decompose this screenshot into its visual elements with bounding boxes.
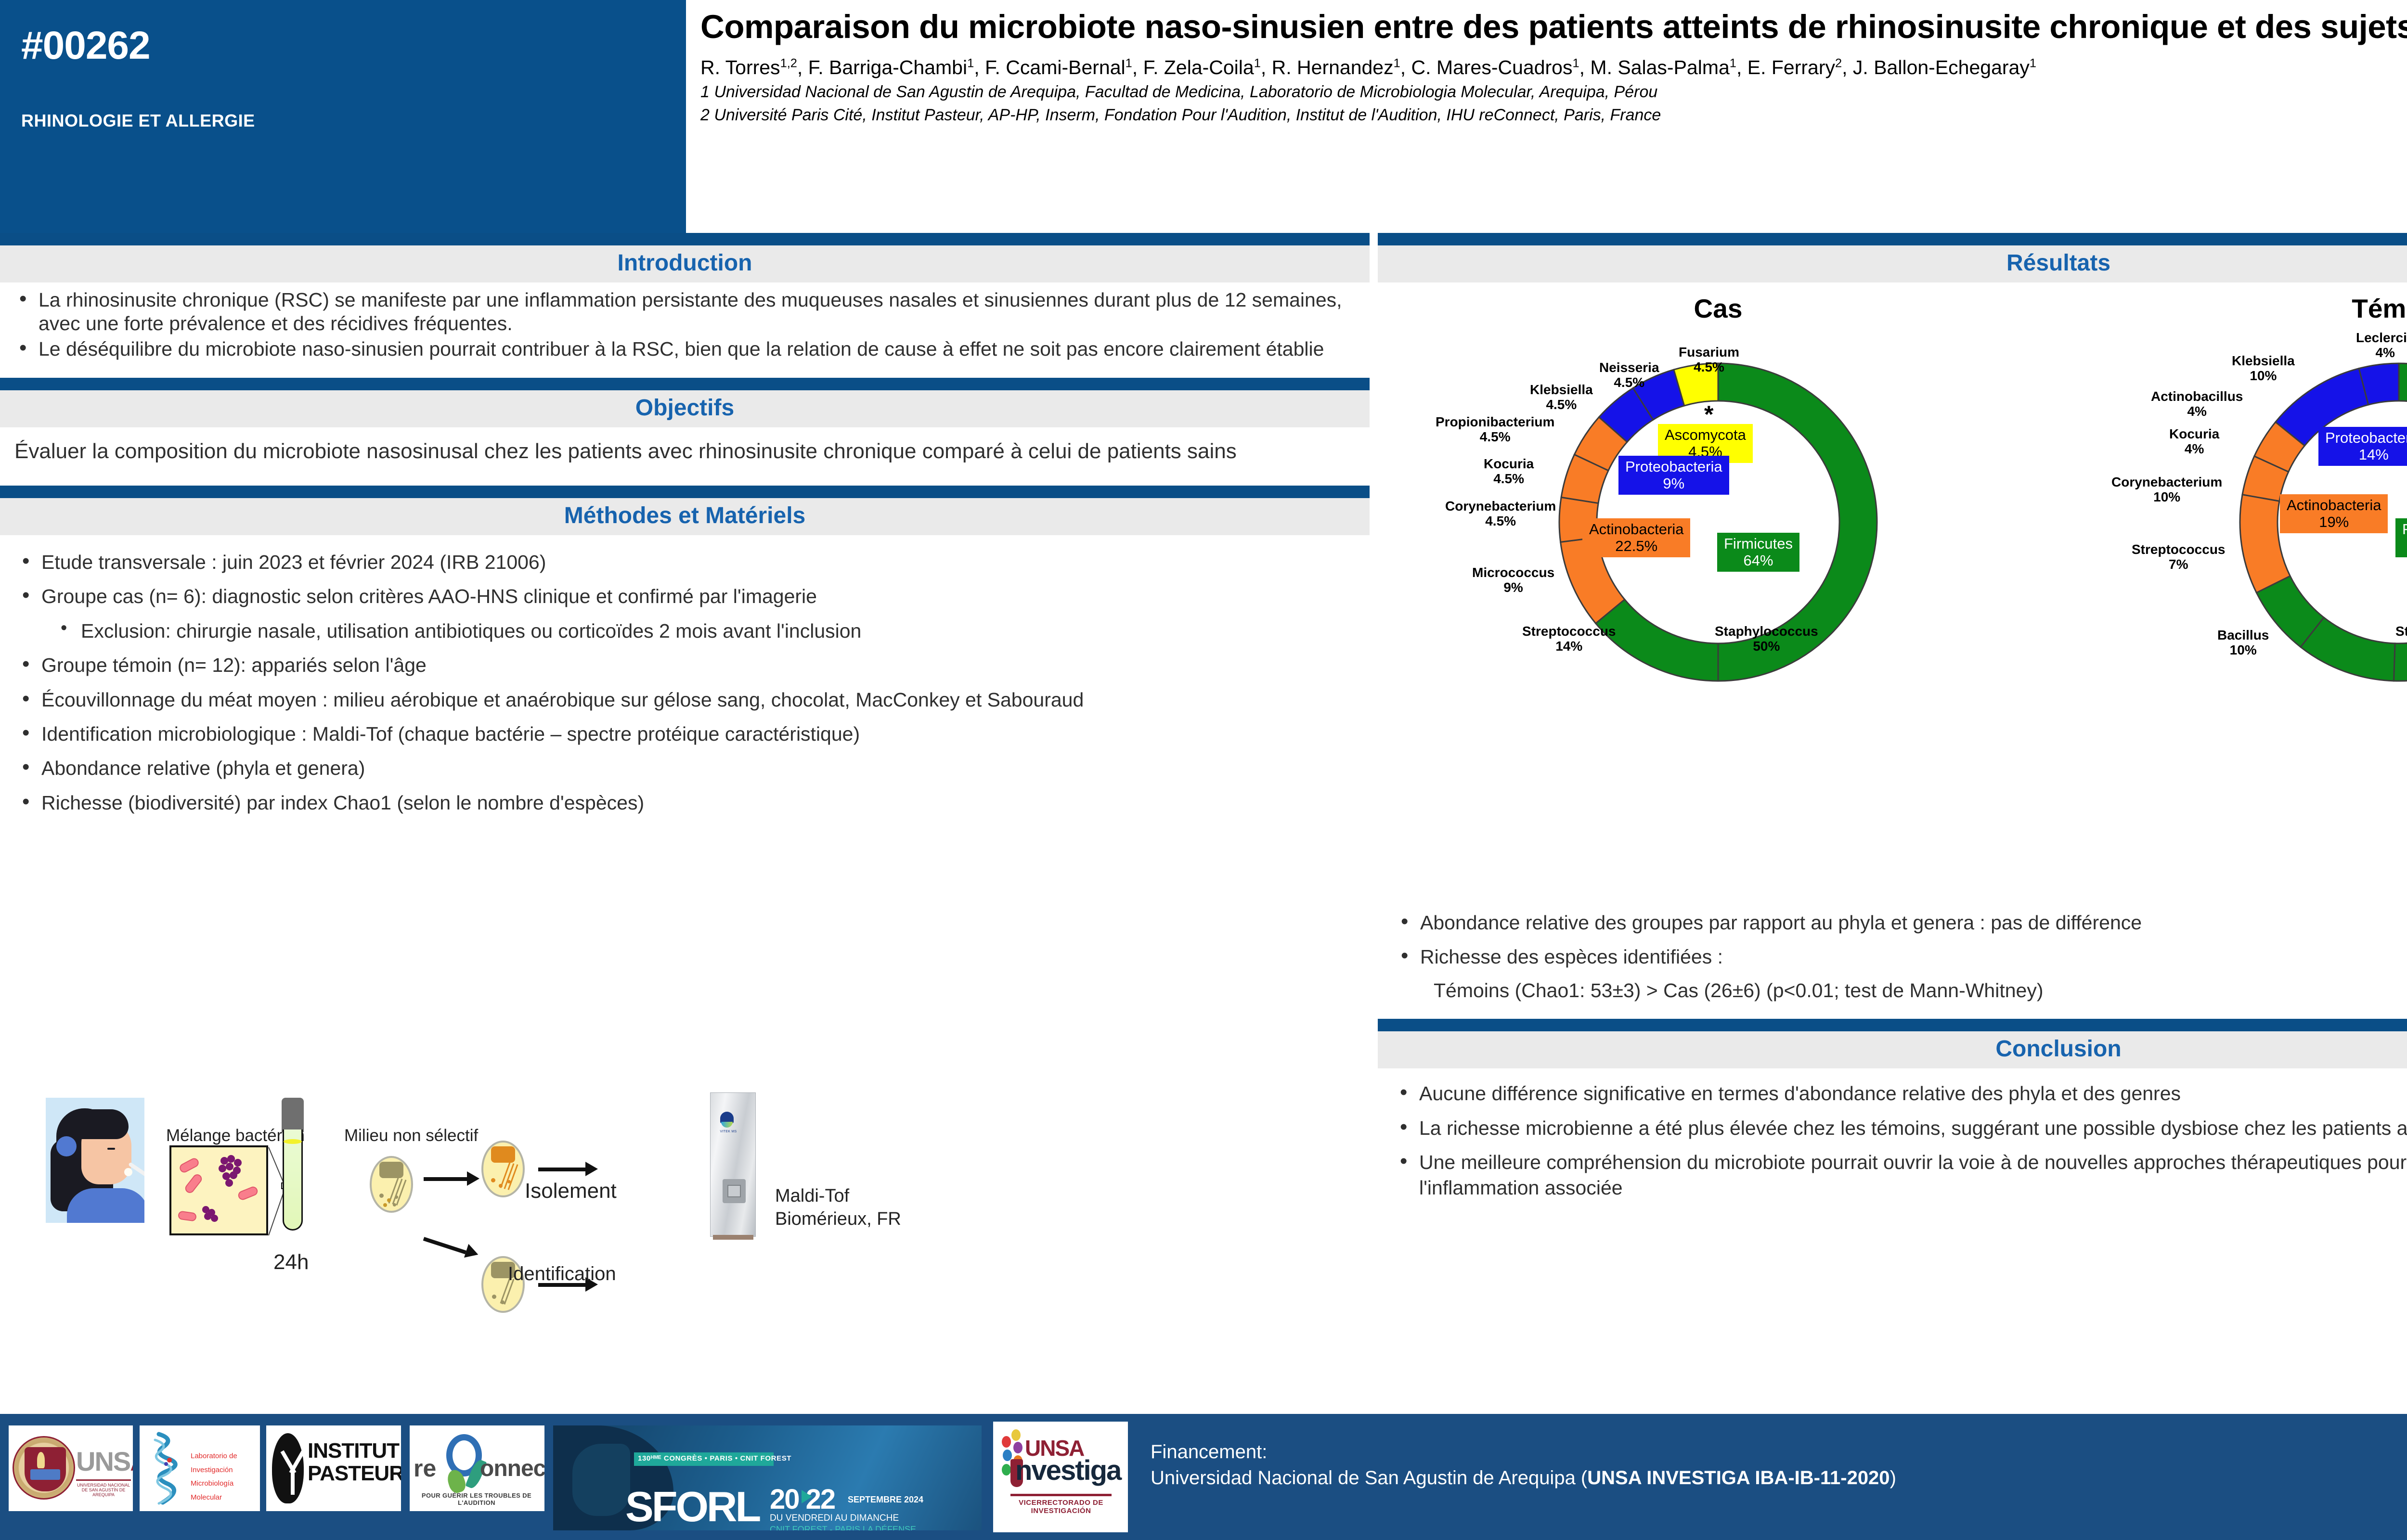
- label-line-name: Bacillus: [2217, 628, 2269, 643]
- colony-dot: [507, 1180, 511, 1183]
- genus-label-klebsiella: Klebsiella10%: [2232, 354, 2295, 384]
- genus-label-leclercia: Leclercia4%: [2356, 331, 2407, 360]
- tube-meniscus-icon: [284, 1139, 302, 1144]
- phylum-chip-firmicutes: Firmicutes67%: [2395, 518, 2407, 557]
- reconnect-tagline: POUR GUÉRIR LES TROUBLES DE L'AUDITION: [414, 1492, 540, 1506]
- author-affiliation-marker: 1: [2030, 56, 2036, 70]
- label-maldi-tof: Maldi-Tof Biomérieux, FR: [775, 1185, 901, 1231]
- author-name: F. Ccami-Bernal: [985, 56, 1126, 78]
- affiliation-1: 1 Universidad Nacional de San Agustin de…: [700, 81, 2407, 103]
- label-line-name: Actinobacillus: [2151, 389, 2243, 404]
- author-name: J. Ballon-Echegaray: [1853, 56, 2030, 78]
- label-line-name: Ascomycota: [1665, 427, 1746, 444]
- author-affiliation-marker: 1: [1394, 56, 1400, 70]
- label-isolement: Isolement: [525, 1179, 617, 1203]
- author-affiliation-marker: 1,2: [780, 56, 797, 70]
- arrow-head-icon: [464, 1244, 480, 1262]
- objectifs-title-bar: Objectifs: [0, 390, 1370, 427]
- label-line-name: Actinobacteria: [2287, 497, 2381, 514]
- label-line-value: 22.5%: [1589, 538, 1683, 555]
- author-affiliation-marker: 1: [1126, 56, 1132, 70]
- label-line-name: Firmicutes: [2402, 521, 2407, 538]
- phylum-chip-proteobacteria: Proteobacteria9%: [1618, 456, 1729, 495]
- label-line-name: Actinobacteria: [1589, 521, 1683, 538]
- colony-dot: [393, 1203, 396, 1206]
- significance-asterisk: *: [1704, 400, 1713, 428]
- label-line-name: Staphylococcus: [2395, 624, 2407, 639]
- workflow-figure: Mélange bactérien 24h Milieu non sélecti…: [0, 1097, 1370, 1407]
- colony-dot: [492, 1295, 496, 1299]
- unsa-word-main: UNS: [76, 1446, 130, 1476]
- sforl-face-icon: [572, 1444, 630, 1516]
- unsa-seal-icon: [13, 1436, 75, 1500]
- author-name: M. Salas-Palma: [1590, 56, 1729, 78]
- label-line-value: 50%: [2395, 639, 2407, 654]
- investiga-rule: [1010, 1494, 1112, 1496]
- colony-dot: [387, 1198, 391, 1202]
- unsa-subtitle: UNIVERSIDAD NACIONAL DE SAN AGUSTÍN DE A…: [76, 1483, 131, 1498]
- label-line-value: 9%: [1625, 475, 1722, 492]
- conclusion-title-bar: Conclusion: [1378, 1031, 2407, 1068]
- introduction-title: Introduction: [618, 250, 752, 276]
- label-line-name: Klebsiella: [1530, 383, 1593, 398]
- author-affiliation-marker: 2: [1835, 56, 1842, 70]
- label-line-name: Propionibacterium: [1436, 415, 1554, 430]
- unsa-word-a: A: [130, 1446, 133, 1476]
- phylum-chip-proteobacteria: Proteobacteria14%: [2318, 427, 2407, 466]
- label-line-name: Staphylococcus: [1715, 624, 1818, 639]
- label-line-value: 9%: [1472, 580, 1554, 595]
- financement-grant-id: UNSA INVESTIGA IBA-IB-11-2020: [1587, 1467, 1889, 1489]
- resultats-title-bar: Résultats: [1378, 245, 2407, 282]
- section-rule: [0, 233, 1370, 245]
- phylum-chip-actinobacteria: Actinobacteria19%: [2280, 494, 2388, 533]
- label-line-name: Kocuria: [1484, 457, 1534, 472]
- label-line-name: Firmicutes: [1724, 536, 1793, 552]
- sforl-wordmark: SFORL: [625, 1482, 759, 1530]
- label-line-name: Corynebacterium: [1445, 499, 1556, 514]
- label-line-value: 7%: [2132, 557, 2226, 572]
- label-line-value: 19%: [2287, 514, 2381, 531]
- protein-ribbon-icon: [144, 1430, 191, 1506]
- financement-close-paren: ): [1890, 1467, 1896, 1489]
- methodes-bullet: Groupe témoin (n= 12): appariés selon l'…: [9, 653, 1355, 678]
- chart-cas-title: Cas: [1378, 293, 2058, 324]
- author-name: E. Ferrary: [1747, 56, 1835, 78]
- methodes-bullet: Etude transversale : juin 2023 et févrie…: [9, 550, 1355, 575]
- petri-dish-icon: [481, 1141, 525, 1197]
- colony-dot: [501, 1300, 505, 1304]
- methodes-title: Méthodes et Matériels: [564, 503, 805, 528]
- objectifs-text: Évaluer la composition du microbiote nas…: [0, 427, 1370, 465]
- methodes-title-bar: Méthodes et Matériels: [0, 498, 1370, 535]
- pasteur-line-2: PASTEUR: [308, 1463, 401, 1485]
- label-line-value: 10%: [2232, 369, 2295, 384]
- genus-label-fusarium: Fusarium4.5%: [1679, 345, 1739, 375]
- investiga-wordmark: nvestiga: [1015, 1454, 1121, 1487]
- label-line-value: 4%: [2151, 404, 2243, 419]
- introduction-title-bar: Introduction: [0, 245, 1370, 282]
- methodes-bullet: Abondance relative (phyla et genera): [9, 756, 1355, 781]
- logo-reconnect: re onnect POUR GUÉRIR LES TROUBLES DE L'…: [410, 1425, 544, 1511]
- author-affiliation-marker: 1: [1730, 56, 1736, 70]
- sforl-band-text: 130ᴴᴹᴱ CONGRÈS • PARIS • CNIT FOREST: [638, 1454, 791, 1463]
- genus-label-propionibacterium: Propionibacterium4.5%: [1436, 415, 1554, 445]
- label-line-name: Proteobacteria: [1625, 459, 1722, 475]
- author-affiliation-marker: 1: [967, 56, 974, 70]
- label-maldi-line1: Maldi-Tof: [775, 1185, 901, 1208]
- colony-dot: [491, 1178, 495, 1182]
- genus-label-corynebacterium: Corynebacterium10%: [2111, 475, 2222, 505]
- label-line-name: Streptococcus: [2132, 542, 2226, 557]
- label-line-value: 4.5%: [1530, 398, 1593, 412]
- section-rule: [0, 486, 1370, 498]
- label-line-name: Proteobacteria: [2325, 430, 2407, 447]
- inoculum-smear: [379, 1162, 403, 1178]
- label-line-value: 4.5%: [1436, 430, 1554, 445]
- investiga-dot: [1002, 1436, 1011, 1448]
- financement-text: Universidad Nacional de San Agustin de A…: [1151, 1465, 2407, 1491]
- label-line-value: 10%: [2217, 643, 2269, 658]
- label-maldi-line2: Biomérieux, FR: [775, 1208, 901, 1231]
- methodes-bullet: Richesse (biodiversité) par index Chao1 …: [9, 790, 1355, 815]
- author-name: R. Hernandez: [1272, 56, 1394, 78]
- author-name: R. Torres: [700, 56, 780, 78]
- sforl-subtitle-1: DU VENDREDI AU DIMANCHE: [770, 1513, 899, 1524]
- pasteur-line-1: INSTITUT: [308, 1440, 401, 1463]
- label-line-name: Fusarium: [1679, 345, 1739, 360]
- unsa-wordmark: UNSA: [76, 1446, 133, 1477]
- label-line-value: 14%: [1522, 639, 1616, 654]
- label-line-value: 67%: [2402, 538, 2407, 555]
- section-rule: [1378, 233, 2407, 245]
- sforl-month: SEPTEMBRE 2024: [848, 1495, 923, 1505]
- right-column: Résultats Cas Staphylococcus50% Streptoc…: [1378, 233, 2407, 1407]
- logo-institut-pasteur: INSTITUT PASTEUR: [266, 1425, 401, 1511]
- phylum-chip-actinobacteria: Actinobacteria22.5%: [1582, 518, 1690, 557]
- sforl-arrow-icon: [802, 1490, 812, 1503]
- conclusion-header: Conclusion: [1378, 1019, 2407, 1068]
- label-line-value: 4%: [2356, 346, 2407, 360]
- arrow-head-icon: [585, 1162, 598, 1176]
- logo-unsa-investiga: UNSA nvestiga VICERRECTORADO DE INVESTIG…: [993, 1422, 1128, 1532]
- financement-block: Financement: Universidad Nacional de San…: [1151, 1439, 2407, 1491]
- reconnect-re: re: [414, 1454, 436, 1482]
- arrow-to-identification-1: [538, 1168, 586, 1171]
- conclusion-title: Conclusion: [1995, 1036, 2121, 1062]
- investiga-dot: [1011, 1429, 1021, 1441]
- genus-label-staphylococcus: Staphylococcus50%: [2395, 624, 2407, 654]
- poster-header: #00262 RHINOLOGIE ET ALLERGIE Comparaiso…: [0, 0, 2407, 233]
- pasteur-mark-icon: [272, 1433, 304, 1503]
- colony-dot: [395, 1195, 398, 1199]
- label-line-value: 4.5%: [1679, 360, 1739, 375]
- label-line-name: Micrococcus: [1472, 565, 1554, 580]
- resultats-text: Abondance relative des groupes par rappo…: [1378, 903, 2407, 1002]
- financement-funder: Universidad Nacional de San Agustin de A…: [1151, 1467, 1587, 1489]
- genus-label-bacillus: Bacillus10%: [2217, 628, 2269, 658]
- genus-label-kocuria: Kocuria4.5%: [1484, 457, 1534, 487]
- tube-body-icon: [283, 1129, 303, 1231]
- arrow-to-plate-1: [424, 1177, 468, 1181]
- conclusion-bullet: La richesse microbienne a été plus élevé…: [1386, 1116, 2407, 1141]
- device-model-label: VITEK MS: [716, 1130, 741, 1133]
- chart-temoin: Témoin Staphylococcus50% Bacillus10% Str…: [2058, 282, 2407, 903]
- author-name: F. Zela-Coila: [1143, 56, 1254, 78]
- author-list: R. Torres1,2, F. Barriga-Chambi1, F. Cca…: [700, 56, 2407, 79]
- label-line-name: Corynebacterium: [2111, 475, 2222, 490]
- label-milieu-non-selectif: Milieu non sélectif: [344, 1126, 478, 1145]
- methodes-bullet: Groupe cas (n= 6): diagnostic selon crit…: [9, 584, 1355, 609]
- unsa-seal-book-icon: [30, 1469, 60, 1480]
- label-line-value: 4.5%: [1445, 514, 1556, 529]
- resultats-bullets: Abondance relative des groupes par rappo…: [1387, 910, 2407, 970]
- colony-dot: [379, 1193, 384, 1198]
- lab-line-2: Microbiología Molecular: [191, 1477, 258, 1504]
- conclusion-bullet: Une meilleure compréhension du microbiot…: [1386, 1150, 2407, 1200]
- author-name: C. Mares-Cuadros: [1411, 56, 1573, 78]
- chart-temoin-title: Témoin: [2058, 293, 2407, 324]
- abstract-number: #00262: [21, 23, 150, 68]
- abstract-id-block: #00262 RHINOLOGIE ET ALLERGIE: [0, 0, 686, 233]
- poster-footer: UNSA UNIVERSIDAD NACIONAL DE SAN AGUSTÍN…: [0, 1414, 2407, 1540]
- charts-area: Cas Staphylococcus50% Streptococcus14% M…: [1378, 282, 2407, 903]
- introduction-bullet: Le déséquilibre du microbiote naso-sinus…: [6, 337, 1358, 361]
- label-line-value: 4.5%: [1599, 375, 1659, 390]
- methodes-bullet: Écouvillonnage du méat moyen : milieu aé…: [9, 687, 1355, 712]
- objectifs-title: Objectifs: [635, 395, 734, 421]
- logo-laboratorio: Laboratorio de Investigación Microbiolog…: [140, 1425, 260, 1511]
- resultats-header: Résultats: [1378, 233, 2407, 282]
- lab-text: Laboratorio de Investigación Microbiolog…: [191, 1450, 258, 1504]
- introduction-bullet: La rhinosinusite chronique (RSC) se mani…: [6, 288, 1358, 335]
- label-line-name: Leclercia: [2356, 331, 2407, 346]
- label-line-name: Streptococcus: [1522, 624, 1616, 639]
- label-line-name: Klebsiella: [2232, 354, 2295, 369]
- maldi-tof-device-illustration: VITEK MS: [705, 1092, 761, 1243]
- conclusion-bullet: Aucune différence significative en terme…: [1386, 1081, 2407, 1106]
- label-line-value: 14%: [2325, 447, 2407, 463]
- title-block: Comparaison du microbiote naso-sinusien …: [686, 0, 2407, 233]
- lab-line-1: Laboratorio de Investigación: [191, 1450, 258, 1477]
- session-topic: RHINOLOGIE ET ALLERGIE: [21, 111, 255, 131]
- logo-unsa: UNSA UNIVERSIDAD NACIONAL DE SAN AGUSTÍN…: [9, 1425, 133, 1511]
- label-incubation-time: 24h: [273, 1250, 309, 1274]
- device-tower: [710, 1092, 756, 1237]
- device-screen: [727, 1185, 741, 1197]
- resultats-bullet: Abondance relative des groupes par rappo…: [1387, 910, 2407, 935]
- methodes-bullet: Identification microbiologique : Maldi-T…: [9, 721, 1355, 746]
- affiliation-2: 2 Université Paris Cité, Institut Pasteu…: [700, 104, 2407, 126]
- chart-cas: Cas Staphylococcus50% Streptococcus14% M…: [1378, 282, 2058, 903]
- colony-dot: [383, 1203, 387, 1207]
- genus-label-kocuria: Kocuria4%: [2169, 427, 2219, 457]
- label-line-value: 4.5%: [1484, 472, 1534, 487]
- tube-cap-icon: [282, 1098, 304, 1132]
- investiga-dot: [1002, 1464, 1011, 1476]
- methodes-bullets: Etude transversale : juin 2023 et févrie…: [0, 535, 1370, 816]
- genus-label-neisseria: Neisseria4.5%: [1599, 360, 1659, 390]
- resultats-chao1-line: Témoins (Chao1: 53±3) > Cas (26±6) (p<0.…: [1387, 979, 2407, 1002]
- colony-dot: [499, 1184, 503, 1188]
- section-rule: [1378, 1019, 2407, 1031]
- unsa-seal-flame-icon: [37, 1452, 45, 1468]
- pasteur-wordmark: INSTITUT PASTEUR: [308, 1440, 401, 1485]
- genus-label-actinobacillus: Actinobacillus4%: [2151, 389, 2243, 419]
- label-line-value: 10%: [2111, 490, 2222, 505]
- methodes-bullet: Exclusion: chirurgie nasale, utilisation…: [9, 618, 1355, 643]
- investiga-subtitle: VICERRECTORADO DE INVESTIGACIÓN: [1010, 1499, 1112, 1515]
- label-line-value: 64%: [1724, 552, 1793, 569]
- section-rule: [0, 378, 1370, 390]
- investiga-dot: [1013, 1442, 1022, 1453]
- resultats-title: Résultats: [2006, 250, 2110, 276]
- label-line-name: Kocuria: [2169, 427, 2219, 442]
- introduction-header: Introduction: [0, 233, 1370, 282]
- zoom-connector-lines: [0, 1097, 318, 1256]
- author-affiliation-marker: 1: [1572, 56, 1579, 70]
- genus-label-streptococcus: Streptococcus7%: [2132, 542, 2226, 572]
- pasteur-y-stem: [291, 1471, 295, 1495]
- inoculum-smear: [491, 1146, 515, 1163]
- sforl-subtitle-2: CNIT FOREST - PARIS LA DÉFENSE: [770, 1525, 916, 1530]
- genus-label-klebsiella: Klebsiella4.5%: [1530, 383, 1593, 412]
- logo-sforl-congress: 130ᴴᴹᴱ CONGRÈS • PARIS • CNIT FOREST SFO…: [553, 1425, 982, 1530]
- reconnect-onnect: onnect: [480, 1455, 544, 1482]
- petri-dish-icon: [370, 1156, 413, 1213]
- label-identification: Identification: [508, 1263, 616, 1285]
- label-line-value: 50%: [1715, 639, 1818, 654]
- genus-label-corynebacterium: Corynebacterium4.5%: [1445, 499, 1556, 529]
- unsa-rule: [76, 1479, 131, 1481]
- device-feet: [713, 1235, 753, 1240]
- objectifs-header: Objectifs: [0, 378, 1370, 427]
- label-line-value: 4%: [2169, 442, 2219, 457]
- phylum-chip-firmicutes: Firmicutes64%: [1717, 533, 1799, 572]
- genus-label-micrococcus: Micrococcus9%: [1472, 565, 1554, 595]
- author-affiliation-marker: 1: [1254, 56, 1261, 70]
- poster-title: Comparaison du microbiote naso-sinusien …: [700, 9, 2407, 45]
- label-line-name: Neisseria: [1599, 360, 1659, 375]
- genus-label-staphylococcus: Staphylococcus50%: [1715, 624, 1818, 654]
- introduction-bullets: La rhinosinusite chronique (RSC) se mani…: [0, 282, 1370, 360]
- resultats-bullet: Richesse des espèces identifiées :: [1387, 944, 2407, 969]
- conclusion-bullets: Aucune différence significative en terme…: [1378, 1068, 2407, 1200]
- author-name: F. Barriga-Chambi: [808, 56, 967, 78]
- methodes-header: Méthodes et Matériels: [0, 486, 1370, 535]
- financement-label: Financement:: [1151, 1439, 2407, 1465]
- arrow-to-plate-2: [423, 1237, 466, 1254]
- genus-label-streptococcus: Streptococcus14%: [1522, 624, 1616, 654]
- arrow-head-icon: [467, 1171, 479, 1186]
